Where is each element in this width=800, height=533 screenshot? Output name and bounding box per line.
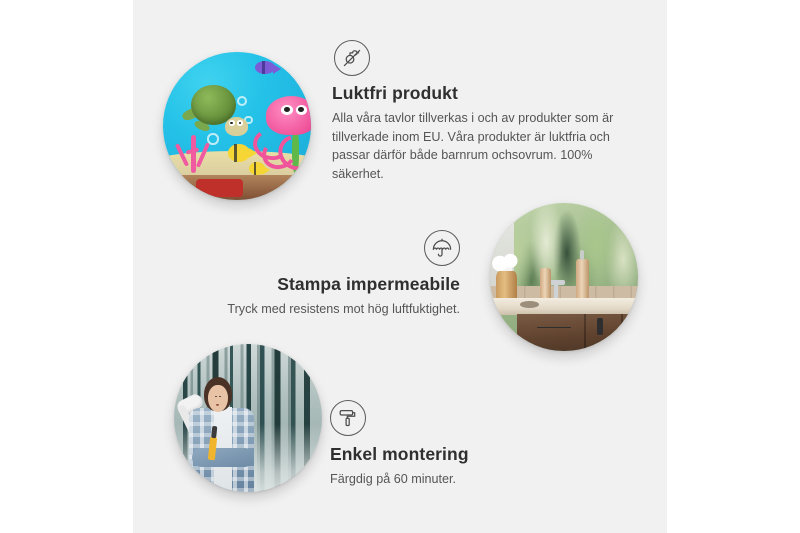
forest-photo [174, 344, 322, 492]
feature-odour-free: Luktfri produkt Alla våra tavlor tillver… [332, 40, 624, 184]
feature-title: Luktfri produkt [332, 83, 624, 104]
fish [255, 61, 276, 74]
paint-roller-icon [330, 400, 366, 436]
turtle [184, 85, 246, 141]
soap-dispenser [576, 259, 589, 300]
bathroom-scene [490, 203, 638, 351]
feature-title: Enkel montering [330, 444, 570, 465]
feature-body: Tryck med resistens mot hög luftfuktighe… [214, 300, 460, 319]
feature-waterproof: Stampa impermeabile Tryck med resistens … [214, 230, 460, 319]
forest-scene [174, 344, 322, 492]
fish [249, 162, 265, 175]
bottle [540, 268, 550, 301]
feature-body: Alla våra tavlor tillverkas i och av pro… [332, 109, 624, 184]
feature-easy-mounting: Enkel montering Färgdig på 60 minuter. [330, 400, 570, 489]
icon-row [330, 400, 570, 436]
fish [228, 144, 250, 162]
icon-row [214, 230, 460, 266]
ocean-foreground [163, 175, 311, 200]
bathroom-photo [490, 203, 638, 351]
ocean-photo [163, 52, 311, 200]
umbrella-icon [424, 230, 460, 266]
icon-row [332, 40, 624, 76]
no-spray-bottle-icon [334, 40, 370, 76]
octopus [252, 96, 311, 164]
feature-body: Färgdig på 60 minuter. [330, 470, 570, 489]
woman-figure [186, 377, 263, 492]
folded-arms [192, 448, 254, 466]
promo-graphic: Luktfri produkt Alla våra tavlor tillver… [0, 0, 800, 533]
soap-dish [520, 301, 539, 308]
vanity-cabinet [517, 314, 638, 351]
countertop [490, 298, 638, 316]
ocean-scene [163, 52, 311, 200]
feature-title: Stampa impermeabile [214, 274, 460, 295]
